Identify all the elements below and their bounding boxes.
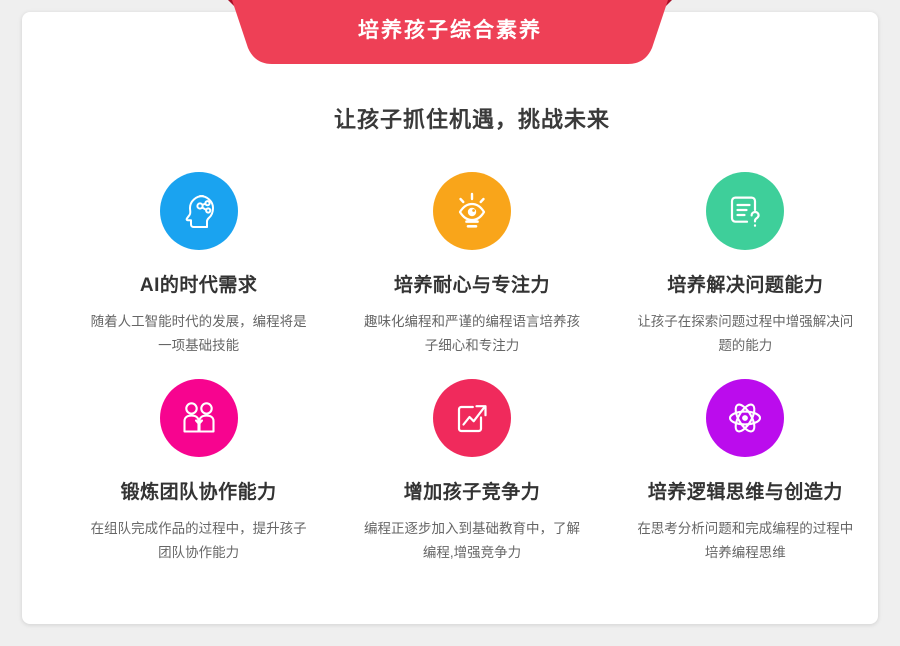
feature-title: AI的时代需求 (140, 270, 258, 297)
feature-card[interactable]: AI的时代需求 随着人工智能时代的发展，编程将是一项基础技能 (62, 172, 335, 379)
feature-card[interactable]: 增加孩子竞争力 编程正逐步加入到基础教育中，了解编程,增强竞争力 (335, 379, 608, 586)
ribbon-body (232, 0, 668, 64)
page-subtitle: 让孩子抓住机遇，挑战未来 (22, 102, 900, 134)
ai-head-icon (176, 188, 222, 234)
feature-grid: AI的时代需求 随着人工智能时代的发展，编程将是一项基础技能 (62, 172, 882, 586)
feature-title: 培养耐心与专注力 (394, 270, 550, 297)
growth-chart-icon (449, 395, 495, 441)
feature-card[interactable]: 培养耐心与专注力 趣味化编程和严谨的编程语言培养孩子细心和专注力 (335, 172, 608, 379)
atom-icon (722, 395, 768, 441)
document-question-icon (722, 188, 768, 234)
feature-icon-circle (160, 379, 238, 457)
lightbulb-eye-icon (449, 188, 495, 234)
feature-card[interactable]: 培养逻辑思维与创造力 在思考分析问题和完成编程的过程中培养编程思维 (609, 379, 882, 586)
content-panel: 让孩子抓住机遇，挑战未来 AI (22, 12, 878, 624)
feature-title: 增加孩子竞争力 (404, 477, 541, 504)
feature-icon-circle (706, 379, 784, 457)
ribbon-shape (228, 0, 672, 68)
feature-card[interactable]: 锻炼团队协作能力 在组队完成作品的过程中，提升孩子团队协作能力 (62, 379, 335, 586)
feature-description: 随着人工智能时代的发展，编程将是一项基础技能 (89, 310, 309, 357)
feature-icon-circle (706, 172, 784, 250)
feature-description: 让孩子在探索问题过程中增强解决问题的能力 (635, 310, 855, 357)
ribbon-banner: 培养孩子综合素养 (228, 0, 672, 68)
feature-description: 编程正逐步加入到基础教育中，了解编程,增强竞争力 (362, 517, 582, 564)
feature-description: 趣味化编程和严谨的编程语言培养孩子细心和专注力 (362, 310, 582, 357)
feature-title: 培养解决问题能力 (667, 270, 823, 297)
feature-description: 在思考分析问题和完成编程的过程中培养编程思维 (635, 517, 855, 564)
feature-description: 在组队完成作品的过程中，提升孩子团队协作能力 (89, 517, 309, 564)
feature-title: 培养逻辑思维与创造力 (648, 477, 843, 504)
feature-card[interactable]: 培养解决问题能力 让孩子在探索问题过程中增强解决问题的能力 (609, 172, 882, 379)
feature-title: 锻炼团队协作能力 (121, 477, 277, 504)
feature-icon-circle (433, 172, 511, 250)
feature-icon-circle (160, 172, 238, 250)
feature-icon-circle (433, 379, 511, 457)
page-root: 让孩子抓住机遇，挑战未来 AI (0, 0, 900, 646)
team-people-icon (176, 395, 222, 441)
